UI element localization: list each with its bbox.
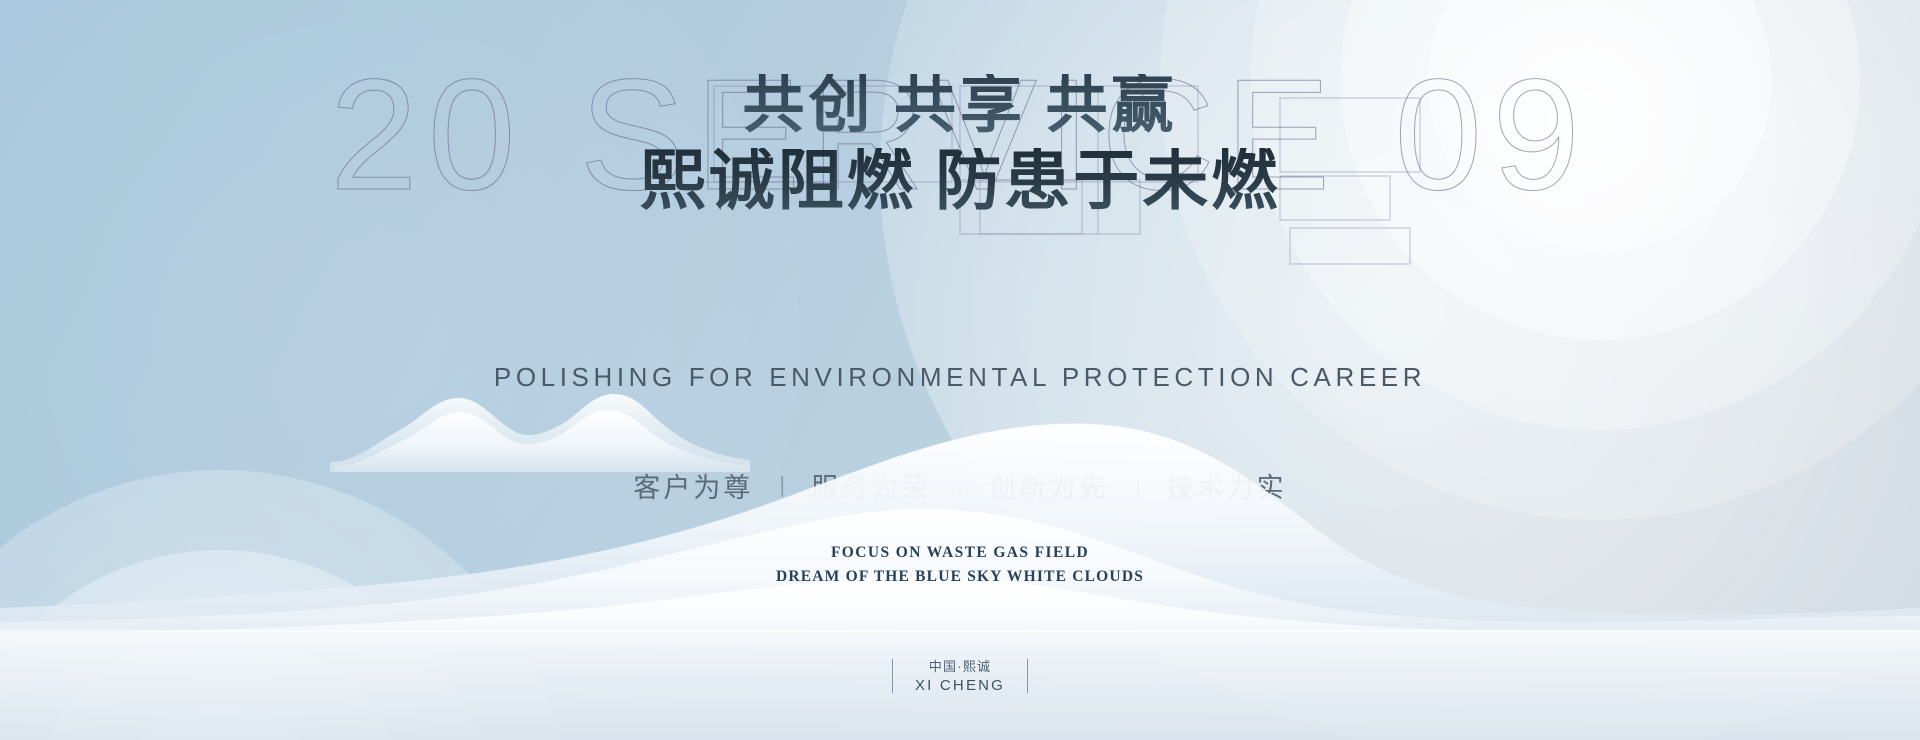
headline-line-1-wrap: 共创 共享 共赢 bbox=[0, 74, 1920, 138]
cloud-layer-1 bbox=[0, 424, 1920, 646]
logo-chinese-name: 中国·熙诚 bbox=[929, 659, 991, 674]
value-item-3: 创新为先 bbox=[989, 466, 1109, 505]
logo-divider-left bbox=[892, 659, 893, 693]
headline-line-2: 熙诚阻燃 防患于未燃 bbox=[0, 148, 1920, 217]
micro-line-1: FOCUS ON WASTE GAS FIELD bbox=[0, 544, 1920, 562]
logo-text-block: 中国·熙诚 XI CHENG bbox=[915, 657, 1005, 696]
value-item-4: 技术为实 bbox=[1167, 466, 1287, 505]
value-item-2: 服务为荣 bbox=[811, 466, 931, 505]
logo-divider-right bbox=[1027, 659, 1028, 693]
banner-stage: 20 SERVICE 09 共创 共享 共赢 熙诚阻燃 防患于未燃 POLISH… bbox=[0, 0, 1920, 740]
value-separator-1: | bbox=[753, 472, 811, 498]
value-separator-3: | bbox=[1109, 472, 1167, 498]
value-item-1: 客户为尊 bbox=[633, 466, 753, 505]
core-values-row: 客户为尊 | 服务为荣 | 创新为先 | 技术为实 bbox=[0, 466, 1920, 505]
headline-line-1: 共创 共享 共赢 bbox=[742, 74, 1177, 138]
brand-logo-lockup: 中国·熙诚 XI CHENG bbox=[0, 657, 1920, 696]
english-tagline: POLISHING FOR ENVIRONMENTAL PROTECTION C… bbox=[0, 362, 1920, 393]
left-cloud-mountain-decoration bbox=[330, 382, 750, 472]
headline-block: 共创 共享 共赢 熙诚阻燃 防患于未燃 bbox=[0, 74, 1920, 217]
serif-micro-lines: FOCUS ON WASTE GAS FIELD DREAM OF THE BL… bbox=[0, 544, 1920, 586]
micro-line-2: DREAM OF THE BLUE SKY WHITE CLOUDS bbox=[0, 568, 1920, 586]
value-separator-2: | bbox=[931, 472, 989, 498]
floor-horizon-line bbox=[0, 630, 1920, 632]
logo-english-name: XI CHENG bbox=[915, 677, 1005, 694]
